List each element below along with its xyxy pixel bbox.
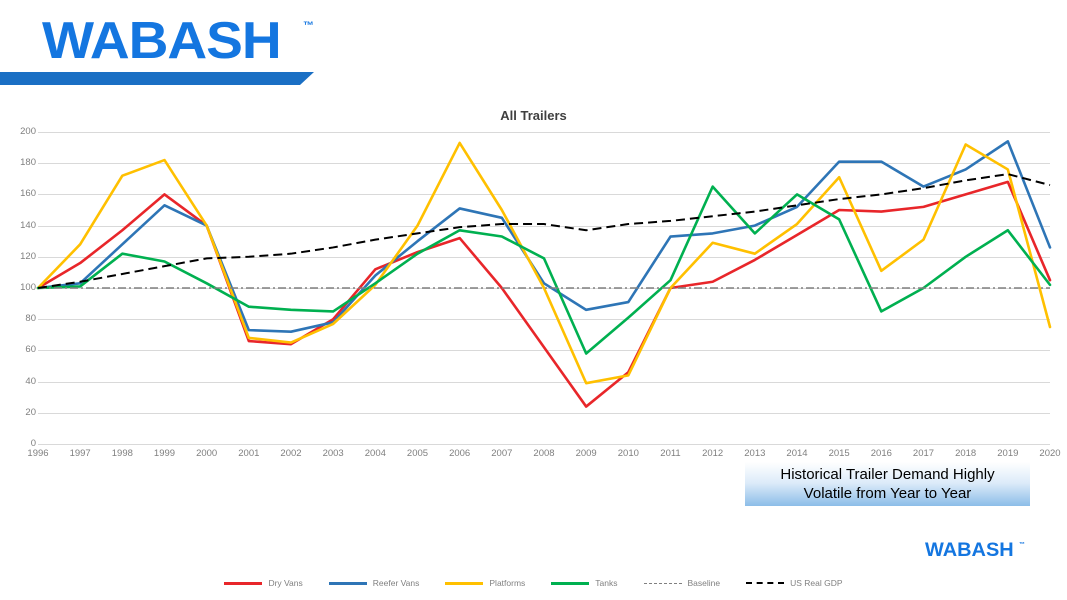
x-axis-tick-label: 2016 [871, 448, 892, 459]
y-axis-tick-label: 200 [8, 126, 36, 137]
trademark-symbol: ™ [303, 20, 314, 32]
x-axis-tick-label: 1997 [70, 448, 91, 459]
x-axis-tick-label: 2014 [786, 448, 807, 459]
x-axis-tick-label: 2003 [323, 448, 344, 459]
x-axis-tick-label: 2010 [618, 448, 639, 459]
x-axis-tick-label: 1999 [154, 448, 175, 459]
x-axis-tick-label: 2019 [997, 448, 1018, 459]
legend-item[interactable]: Dry Vans [224, 578, 302, 588]
legend-item[interactable]: Baseline [644, 578, 721, 588]
legend-item[interactable]: Platforms [445, 578, 525, 588]
legend-label: Dry Vans [268, 578, 302, 588]
x-axis-tick-label: 2004 [365, 448, 386, 459]
x-axis-tick-label: 2002 [280, 448, 301, 459]
callout-box: Historical Trailer Demand Highly Volatil… [745, 462, 1030, 506]
legend-item[interactable]: US Real GDP [746, 578, 842, 588]
y-axis-tick-label: 140 [8, 220, 36, 231]
y-axis-tick-label: 180 [8, 157, 36, 168]
x-axis-tick-label: 2018 [955, 448, 976, 459]
legend-label: US Real GDP [790, 578, 842, 588]
y-axis-tick-label: 120 [8, 251, 36, 262]
legend-item[interactable]: Tanks [551, 578, 617, 588]
callout-text: Historical Trailer Demand Highly Volatil… [780, 465, 994, 503]
x-axis-tick-label: 2012 [702, 448, 723, 459]
y-axis-tick-label: 160 [8, 188, 36, 199]
series-lines [38, 132, 1050, 444]
legend-label: Baseline [688, 578, 721, 588]
x-axis-tick-label: 2007 [491, 448, 512, 459]
footer-logo: WABASH ™ [925, 540, 1045, 566]
y-axis-tick-label: 80 [8, 313, 36, 324]
legend-label: Reefer Vans [373, 578, 420, 588]
x-axis-tick-label: 1996 [27, 448, 48, 459]
y-axis-tick-label: 60 [8, 344, 36, 355]
series-line [38, 182, 1050, 407]
gridline [38, 444, 1050, 445]
x-axis-tick-label: 2006 [449, 448, 470, 459]
legend-item[interactable]: Reefer Vans [329, 578, 420, 588]
x-axis-tick-label: 2020 [1039, 448, 1060, 459]
logo-accent-bar [0, 72, 300, 85]
x-axis-tick-label: 2017 [913, 448, 934, 459]
logo-accent-bar-tip [300, 72, 314, 85]
series-line [38, 174, 1050, 288]
legend-label: Tanks [595, 578, 617, 588]
x-axis-tick-label: 2008 [533, 448, 554, 459]
x-axis-tick-label: 2005 [407, 448, 428, 459]
chart-legend: Dry VansReefer VansPlatformsTanksBaselin… [0, 578, 1067, 588]
legend-swatch [746, 582, 784, 584]
x-axis-tick-label: 1998 [112, 448, 133, 459]
x-axis-tick-label: 2011 [660, 448, 680, 459]
footer-trademark-symbol: ™ [1019, 542, 1025, 548]
legend-swatch [551, 582, 589, 585]
x-axis-tick-label: 2001 [238, 448, 259, 459]
legend-swatch [329, 582, 367, 585]
legend-swatch [224, 582, 262, 585]
y-axis-tick-label: 20 [8, 407, 36, 418]
wabash-wordmark: WABASH [42, 11, 281, 71]
x-axis-tick-label: 2009 [576, 448, 597, 459]
footer-wordmark: WABASH [925, 540, 1014, 562]
legend-swatch [445, 582, 483, 585]
legend-swatch [644, 583, 682, 584]
x-axis-tick-label: 2013 [744, 448, 765, 459]
y-axis-tick-label: 40 [8, 376, 36, 387]
header-logo: WABASH ™ [0, 0, 330, 95]
chart-title: All Trailers [0, 108, 1067, 123]
x-axis-tick-label: 2000 [196, 448, 217, 459]
y-axis-tick-label: 100 [8, 282, 36, 293]
plot-area: 020406080100120140160180200 199619971998… [38, 132, 1050, 444]
legend-label: Platforms [489, 578, 525, 588]
chart-container: All Trailers 020406080100120140160180200… [0, 100, 1067, 500]
x-axis-tick-label: 2015 [829, 448, 850, 459]
